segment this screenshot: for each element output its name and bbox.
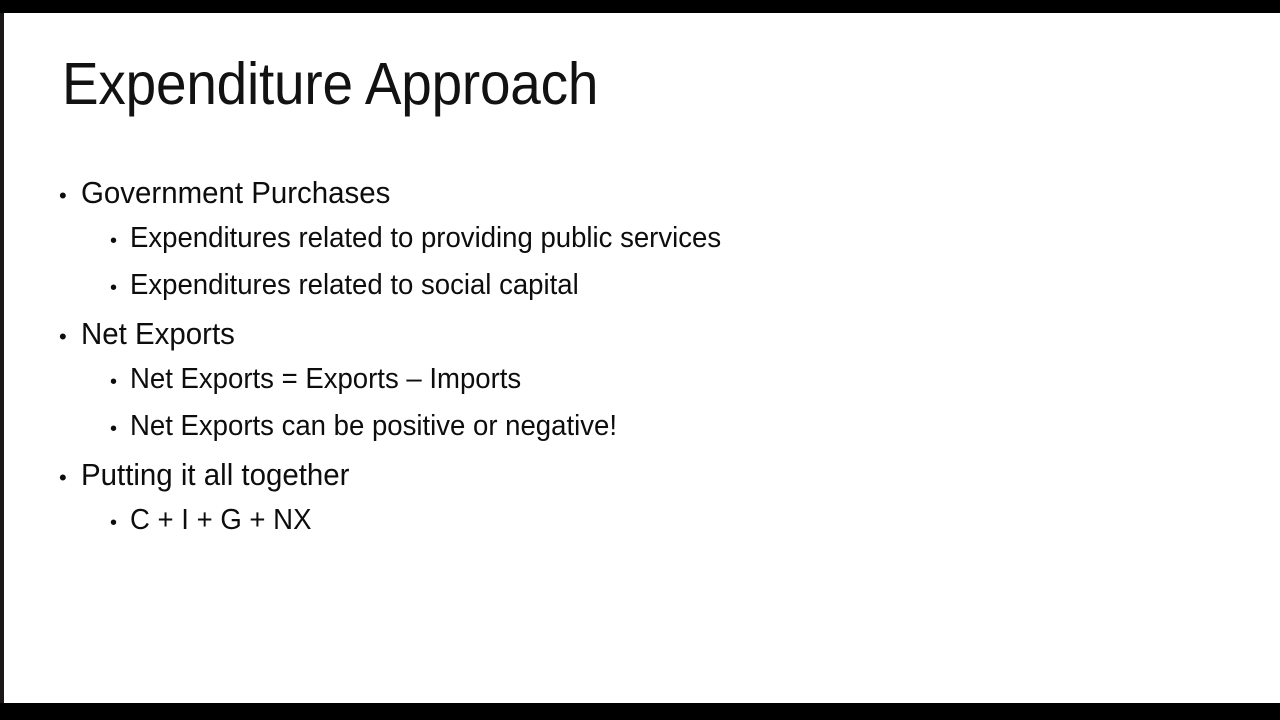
bullet-dot-icon: •: [110, 277, 130, 300]
bullet-item-level-1: •Putting it all together: [4, 457, 1280, 504]
bullet-item-label: Expenditures related to providing public…: [130, 222, 721, 255]
bullet-item-label: Expenditures related to social capital: [130, 269, 579, 302]
bullet-item-label: Net Exports: [81, 316, 235, 352]
bullet-item-level-2: •C + I + G + NX: [4, 504, 1280, 551]
bullet-item-level-2: •Net Exports = Exports – Imports: [4, 363, 1280, 410]
bullet-item-label: C + I + G + NX: [130, 504, 311, 537]
bullet-item-level-1: •Government Purchases: [4, 175, 1280, 222]
letterbox-bar-bottom: [0, 703, 1280, 720]
bullet-item-level-1: •Net Exports: [4, 316, 1280, 363]
bullet-item-label: Net Exports = Exports – Imports: [130, 363, 521, 396]
bullet-dot-icon: •: [59, 324, 81, 350]
bullet-dot-icon: •: [59, 183, 81, 209]
bullet-item-level-2: •Net Exports can be positive or negative…: [4, 410, 1280, 457]
bullet-dot-icon: •: [110, 512, 130, 535]
video-player-frame: Expenditure Approach •Government Purchas…: [0, 0, 1280, 720]
bullet-item-label: Government Purchases: [81, 175, 390, 211]
letterbox-bar-top: [0, 0, 1280, 13]
bullet-dot-icon: •: [110, 371, 130, 394]
bullet-item-level-2: •Expenditures related to providing publi…: [4, 222, 1280, 269]
bullet-item-label: Net Exports can be positive or negative!: [130, 410, 617, 443]
bullet-dot-icon: •: [110, 418, 130, 441]
page-title: Expenditure Approach: [62, 55, 598, 114]
presentation-slide: Expenditure Approach •Government Purchas…: [4, 13, 1280, 703]
bullet-item-level-2: •Expenditures related to social capital: [4, 269, 1280, 316]
bullet-item-label: Putting it all together: [81, 457, 349, 493]
bullet-dot-icon: •: [59, 465, 81, 491]
bullet-dot-icon: •: [110, 230, 130, 253]
slide-body-content: •Government Purchases•Expenditures relat…: [4, 175, 1280, 551]
